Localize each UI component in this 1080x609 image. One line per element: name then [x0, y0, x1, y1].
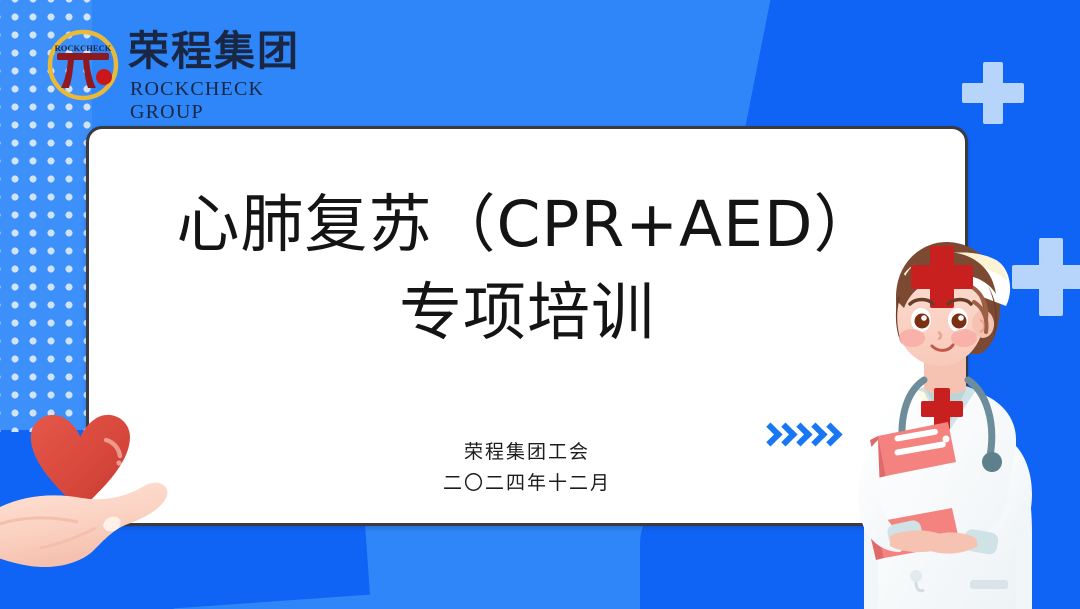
rockcheck-logo-icon: ROCKCHECK — [44, 26, 122, 104]
nurse-illustration — [820, 240, 1060, 609]
presentation-slide: ROCKCHECK 荣程集团 ROCKCHECK GROUP 心肺复苏（CPR+… — [0, 0, 1080, 609]
chevron-right-icon — [807, 424, 820, 450]
chevron-right-icon — [762, 424, 775, 450]
chevron-right-icon — [777, 424, 790, 450]
hand-holding-heart-illustration — [0, 404, 246, 609]
brand-name-cn: 荣程集团 — [128, 28, 300, 74]
svg-text:ROCKCHECK: ROCKCHECK — [55, 43, 112, 53]
chevron-right-icon — [792, 424, 805, 450]
brand-logo: ROCKCHECK 荣程集团 ROCKCHECK GROUP — [44, 24, 334, 108]
brand-name-en: ROCKCHECK GROUP — [130, 78, 334, 124]
medical-cross-icon — [962, 62, 1024, 124]
